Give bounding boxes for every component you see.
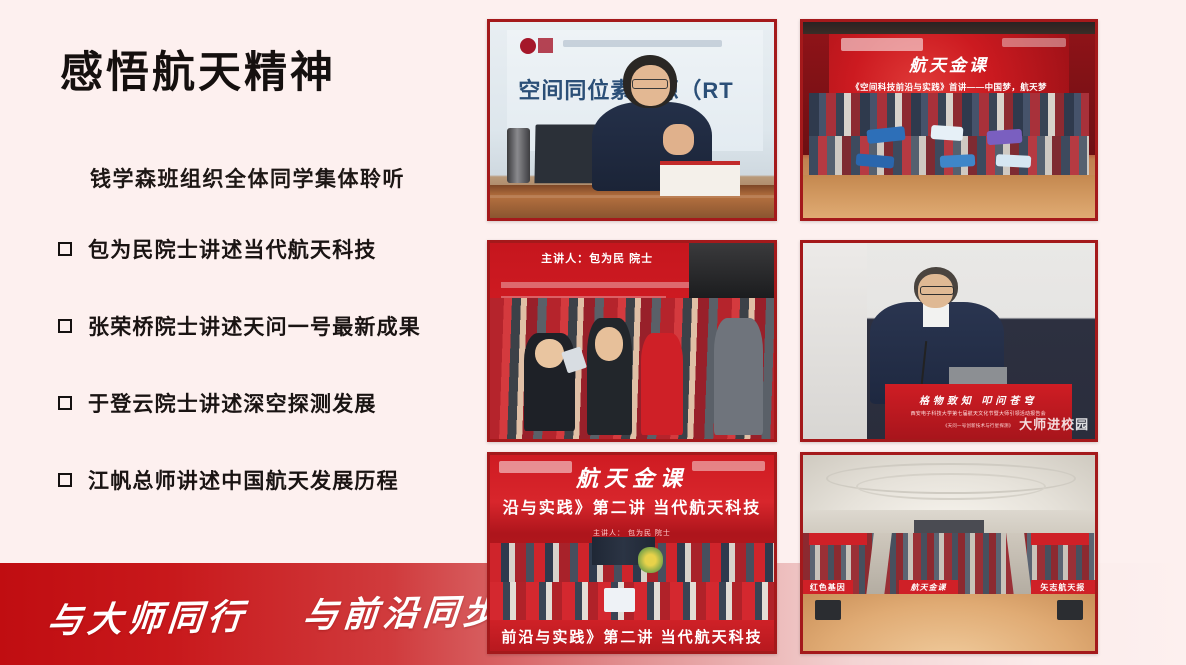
- list-item-label: 于登云院士讲述深空探测发展: [88, 388, 377, 418]
- photo5-placard: [604, 588, 635, 612]
- list-item: 张荣桥院士讲述天问一号最新成果: [58, 309, 458, 343]
- photo3-banner-line: [501, 282, 688, 288]
- photo4-podium-title: 格物致知 叩问苍穹: [885, 392, 1072, 407]
- list-item: 包为民院士讲述当代航天科技: [58, 232, 458, 266]
- speaker-box-icon: [1057, 600, 1083, 620]
- photo-group-stage-first-lecture: 航天金课 《空间科技前沿与实践》首讲——中国梦，航天梦 主讲人： 江 帆 总师: [800, 19, 1098, 221]
- photo3-student-face: [535, 339, 563, 368]
- photo6-banner-left: 红色基因: [803, 580, 853, 594]
- square-bullet-icon: [58, 319, 72, 333]
- glasses-icon: [920, 286, 954, 295]
- bullet-list: 包为民院士讲述当代航天科技 张荣桥院士讲述天问一号最新成果 于登云院士讲述深空探…: [58, 232, 458, 497]
- list-item: 江帆总师讲述中国航天发展历程: [58, 463, 458, 497]
- photo6-banner-center: 航天金课: [899, 580, 957, 594]
- photo2-stage-floor: [803, 175, 1095, 218]
- photo6-ceiling-ring: [856, 473, 1047, 501]
- photo6-floor: [803, 594, 1095, 651]
- banner-slogan: 与大师同行 与前沿同步: [45, 583, 505, 644]
- speaker-box-icon: [815, 600, 841, 620]
- list-item-label: 张荣桥院士讲述天问一号最新成果: [88, 311, 421, 341]
- square-bullet-icon: [58, 242, 72, 256]
- square-bullet-icon: [58, 396, 72, 410]
- photo4-left-wall: [803, 243, 867, 439]
- photo3-banner-text: 主讲人：包为民 院士: [541, 250, 653, 266]
- photo1-nameplate: [660, 161, 740, 196]
- bouquet-icon: [638, 547, 664, 572]
- photo3-student-gray: [714, 318, 762, 436]
- photo4-laptop: [949, 367, 1007, 385]
- photo2-placard: [987, 129, 1023, 145]
- square-bullet-icon: [58, 473, 72, 487]
- photo6-banner-right: 矢志航天报: [1031, 580, 1095, 594]
- list-item-label: 江帆总师讲述中国航天发展历程: [88, 465, 399, 495]
- photo2-backdrop-title: 航天金课: [803, 51, 1095, 76]
- photo2-placard: [931, 125, 964, 141]
- photo-group-second-lecture: 航天金课 沿与实践》第二讲 当代航天科技 主讲人： 包为民 院士 前沿与实践》第…: [487, 452, 777, 654]
- list-item-label: 包为民院士讲述当代航天科技: [88, 234, 377, 264]
- photo1-thermos: [507, 128, 530, 183]
- photo5-strip-text: 前沿与实践》第二讲 当代航天科技: [490, 626, 774, 647]
- photo5-backdrop-title: 航天金课: [490, 461, 774, 493]
- photo2-backdrop-subtitle: 《空间科技前沿与实践》首讲——中国梦，航天梦: [803, 81, 1095, 93]
- photo5-backdrop-speaker: 主讲人： 包为民 院士: [490, 528, 774, 538]
- glasses-icon: [632, 79, 668, 89]
- photo6-upper-banner-left: [809, 533, 867, 545]
- photo3-student-red: [641, 333, 684, 435]
- photo1-speaker-hand: [663, 124, 694, 155]
- photo3-led-screen: [689, 243, 774, 306]
- photo2-placard: [995, 154, 1031, 168]
- presentation-slide: 与大师同行 与前沿同步 感悟航天精神 钱学森班组织全体同学集体聆听 包为民院士讲…: [0, 0, 1186, 665]
- photo3-professor-face: [595, 327, 623, 360]
- photo-auditorium-audience: 红色基因 航天金课 矢志航天报: [800, 452, 1098, 654]
- photo-students-selfie: 主讲人：包为民 院士: [487, 240, 777, 442]
- photo2-sponsor-row: [1002, 38, 1066, 48]
- photo4-watermark: 大师进校园: [1019, 414, 1089, 433]
- page-title: 感悟航天精神: [60, 38, 336, 100]
- page-subtitle: 钱学森班组织全体同学集体聆听: [90, 163, 405, 193]
- photo6-upper-banner-right: [1031, 533, 1089, 545]
- photo2-placard: [940, 154, 976, 168]
- photo-lecture-speaker: 空间同位素电源（RT: [487, 19, 777, 221]
- photo2-logo-row: [841, 38, 923, 52]
- photo5-backdrop-subtitle: 沿与实践》第二讲 当代航天科技: [490, 494, 774, 518]
- photo-podium-speaker: 格物致知 叩问苍穹 西安电子科技大学第七届航天文化节暨大师引领活动报告会 《天问…: [800, 240, 1098, 442]
- photo1-slide-header: [563, 40, 721, 47]
- list-item: 于登云院士讲述深空探测发展: [58, 386, 458, 420]
- institute-logo-icon: [538, 38, 553, 53]
- university-seal-icon: [520, 38, 536, 54]
